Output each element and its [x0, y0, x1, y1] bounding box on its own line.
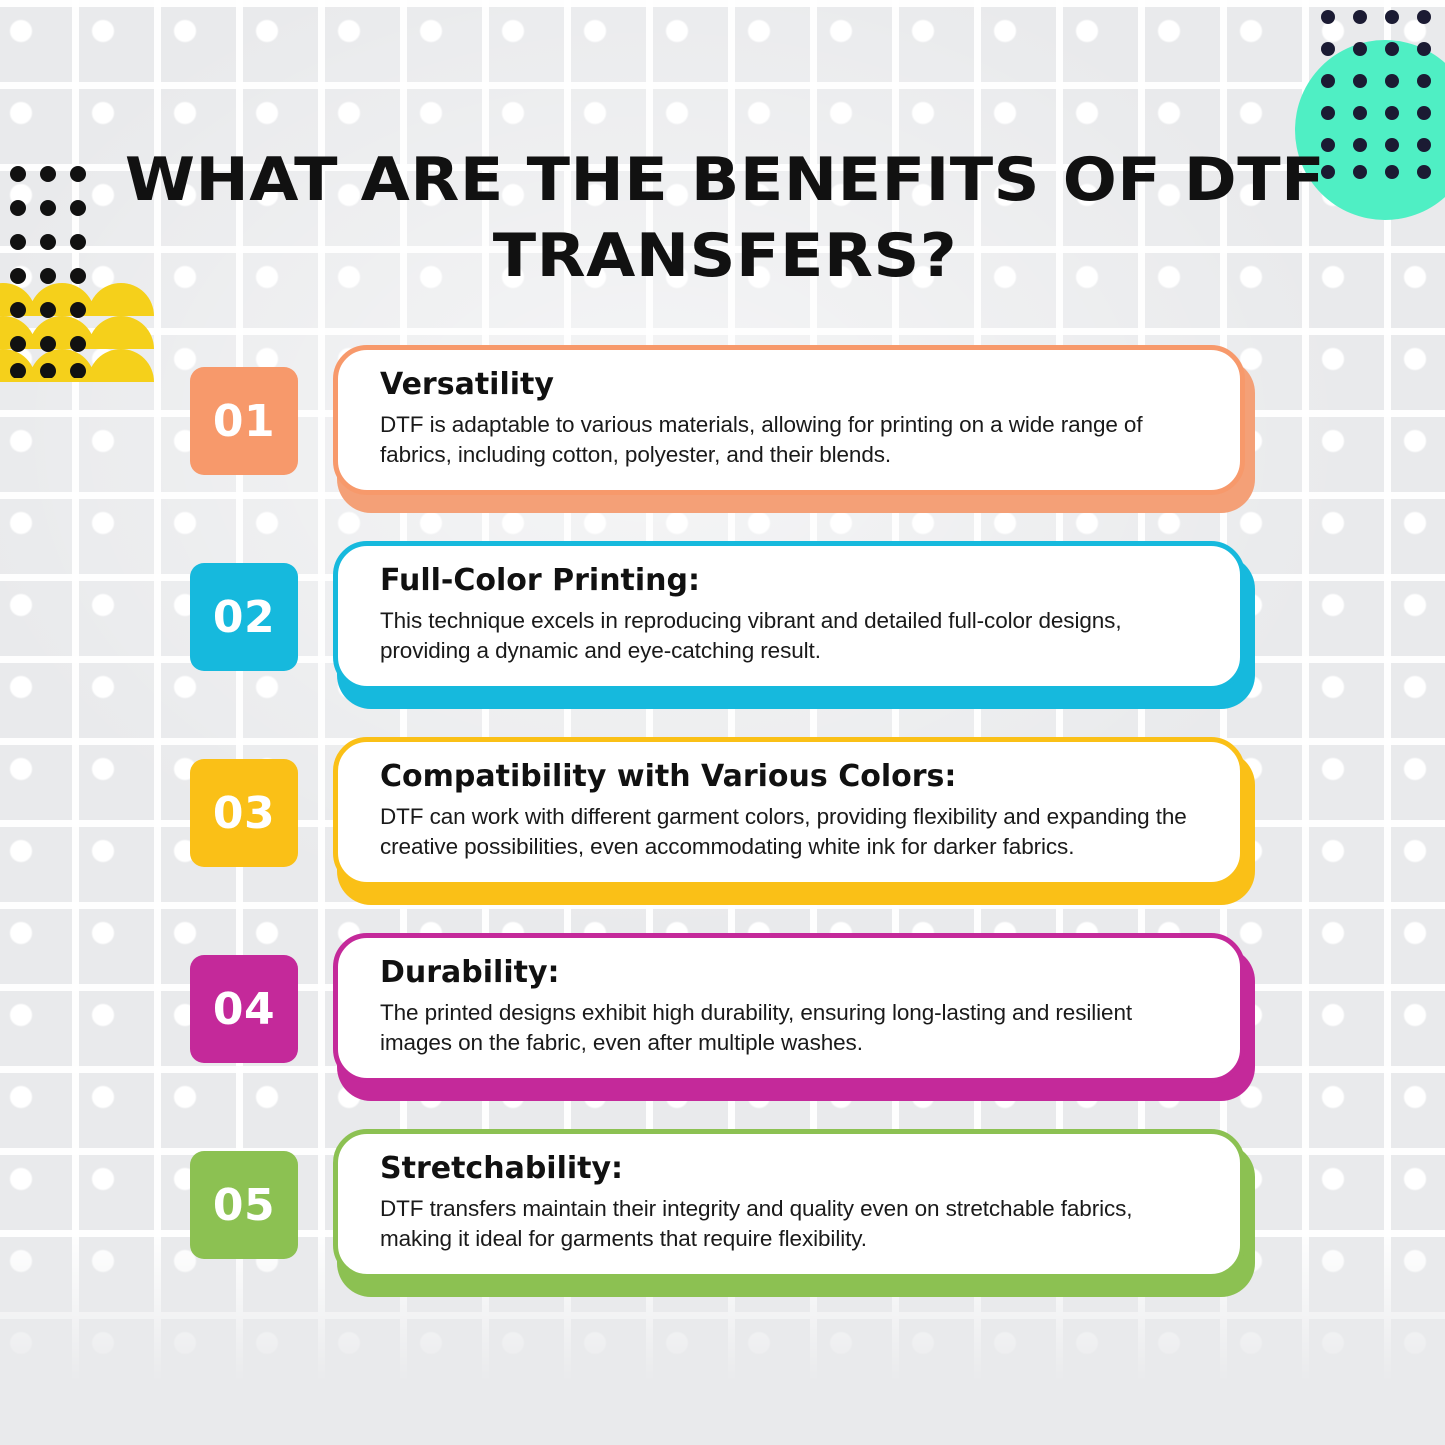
- list-item: 04 Durability: The printed designs exhib…: [0, 933, 1445, 1129]
- list-item: 03 Compatibility with Various Colors: DT…: [0, 737, 1445, 933]
- infographic-content: WHAT ARE THE BENEFITS OF DTF TRANSFERS? …: [0, 0, 1445, 1445]
- benefit-title-04: Durability:: [380, 954, 1212, 992]
- card-surface-01: Versatility DTF is adaptable to various …: [333, 345, 1245, 495]
- benefit-body-02: This technique excels in reproducing vib…: [380, 606, 1200, 666]
- benefit-body-03: DTF can work with different garment colo…: [380, 802, 1200, 862]
- benefit-number-badge-01: 01: [190, 367, 298, 475]
- benefit-card-04[interactable]: Durability: The printed designs exhibit …: [333, 933, 1255, 1101]
- card-surface-02: Full-Color Printing: This technique exce…: [333, 541, 1245, 691]
- list-item: 02 Full-Color Printing: This technique e…: [0, 541, 1445, 737]
- benefit-card-03[interactable]: Compatibility with Various Colors: DTF c…: [333, 737, 1255, 905]
- benefit-card-01[interactable]: Versatility DTF is adaptable to various …: [333, 345, 1255, 513]
- page-title: WHAT ARE THE BENEFITS OF DTF TRANSFERS?: [116, 142, 1335, 294]
- benefit-title-01: Versatility: [380, 366, 1212, 404]
- benefit-title-02: Full-Color Printing:: [380, 562, 1212, 600]
- benefit-title-03: Compatibility with Various Colors:: [380, 758, 1212, 796]
- card-surface-05: Stretchability: DTF transfers maintain t…: [333, 1129, 1245, 1279]
- card-surface-03: Compatibility with Various Colors: DTF c…: [333, 737, 1245, 887]
- benefits-list: 01 Versatility DTF is adaptable to vario…: [0, 345, 1445, 1325]
- benefit-number-badge-04: 04: [190, 955, 298, 1063]
- list-item: 01 Versatility DTF is adaptable to vario…: [0, 345, 1445, 541]
- benefit-number-badge-03: 03: [190, 759, 298, 867]
- list-item: 05 Stretchability: DTF transfers maintai…: [0, 1129, 1445, 1325]
- benefit-body-01: DTF is adaptable to various materials, a…: [380, 410, 1200, 470]
- benefit-body-05: DTF transfers maintain their integrity a…: [380, 1194, 1200, 1254]
- benefit-number-badge-02: 02: [190, 563, 298, 671]
- benefit-number-badge-05: 05: [190, 1151, 298, 1259]
- benefit-title-05: Stretchability:: [380, 1150, 1212, 1188]
- benefit-body-04: The printed designs exhibit high durabil…: [380, 998, 1200, 1058]
- card-surface-04: Durability: The printed designs exhibit …: [333, 933, 1245, 1083]
- benefit-card-02[interactable]: Full-Color Printing: This technique exce…: [333, 541, 1255, 709]
- benefit-card-05[interactable]: Stretchability: DTF transfers maintain t…: [333, 1129, 1255, 1297]
